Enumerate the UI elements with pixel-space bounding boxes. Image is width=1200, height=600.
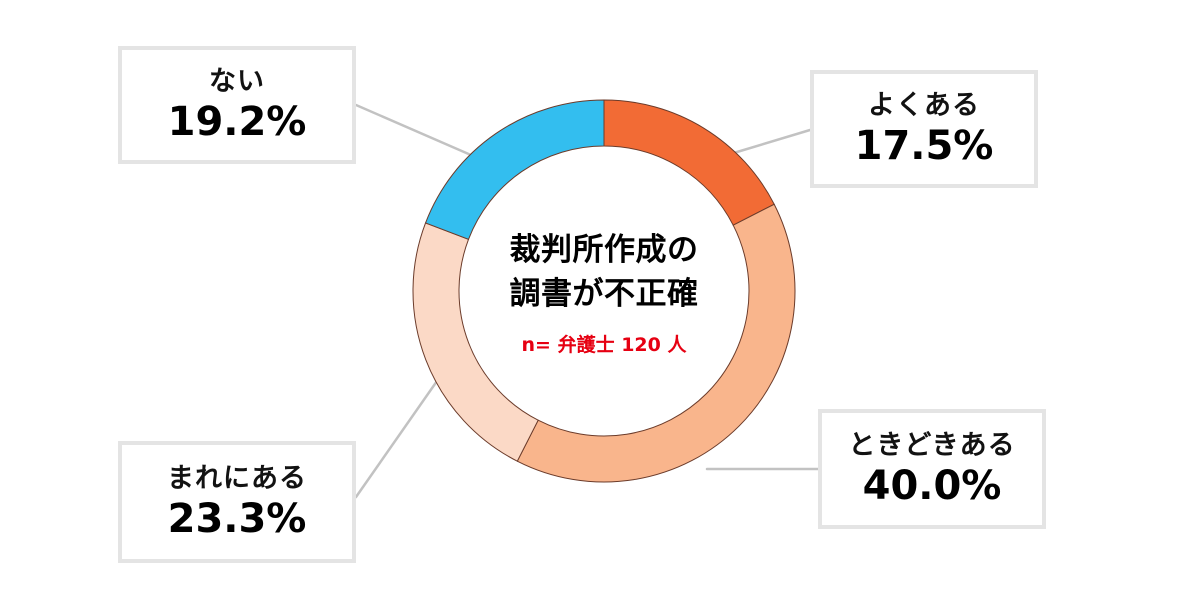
callout-value-nai: 19.2% [168,99,307,145]
donut-ring: よくある 17.5%ときどきある 40.0%まれにある 23.3%ない 19.2… [413,100,795,482]
callout-value-mareniaru: 23.3% [168,496,307,542]
donut-slice-0[interactable]: よくある 17.5% [604,100,774,225]
callout-value-yokuaru: 17.5% [855,123,994,169]
donut-slice-3[interactable]: ない 19.2% [426,100,604,239]
leader-line-yoku [727,130,810,155]
callout-label-yokuaru: よくある [868,89,980,123]
callout-box-nai: ない 19.2% [118,46,356,164]
callout-value-tokidokiaru: 40.0% [863,463,1002,509]
leader-line-mareni [356,381,437,497]
donut-slice-1[interactable]: ときどきある 40.0% [517,204,795,482]
chart-canvas: よくある 17.5%ときどきある 40.0%まれにある 23.3%ない 19.2… [0,0,1200,600]
donut-slice-2[interactable]: まれにある 23.3% [413,223,538,461]
callout-box-mareniaru: まれにある 23.3% [118,441,356,563]
callout-label-nai: ない [209,65,265,99]
leader-line-nai [356,105,487,162]
callout-label-tokidokiaru: ときどきある [848,429,1015,463]
callout-label-mareniaru: まれにある [167,462,307,496]
callout-box-tokidokiaru: ときどきある 40.0% [818,409,1046,529]
callout-box-yokuaru: よくある 17.5% [810,70,1038,188]
